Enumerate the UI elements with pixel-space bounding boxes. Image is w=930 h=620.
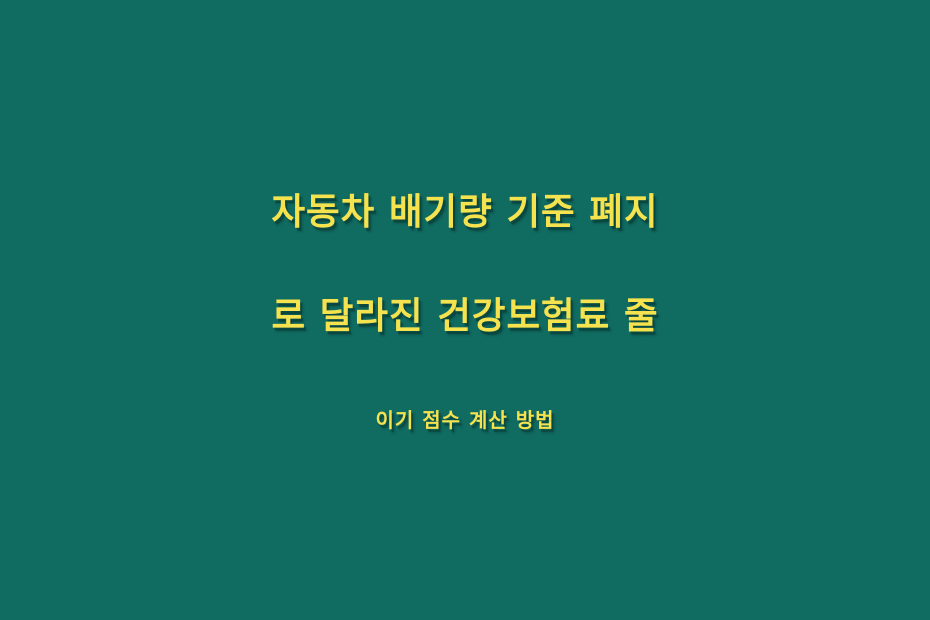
- headline-line-2: 로 달라진 건강보험료 줄: [65, 264, 865, 368]
- thumbnail-card: 자동차 배기량 기준 폐지 로 달라진 건강보험료 줄 이기 점수 계산 방법: [0, 0, 930, 620]
- headline-block: 자동차 배기량 기준 폐지 로 달라진 건강보험료 줄 이기 점수 계산 방법: [55, 160, 875, 472]
- headline-line-3: 이기 점수 계산 방법: [65, 368, 865, 472]
- headline-line-1: 자동차 배기량 기준 폐지: [65, 160, 865, 264]
